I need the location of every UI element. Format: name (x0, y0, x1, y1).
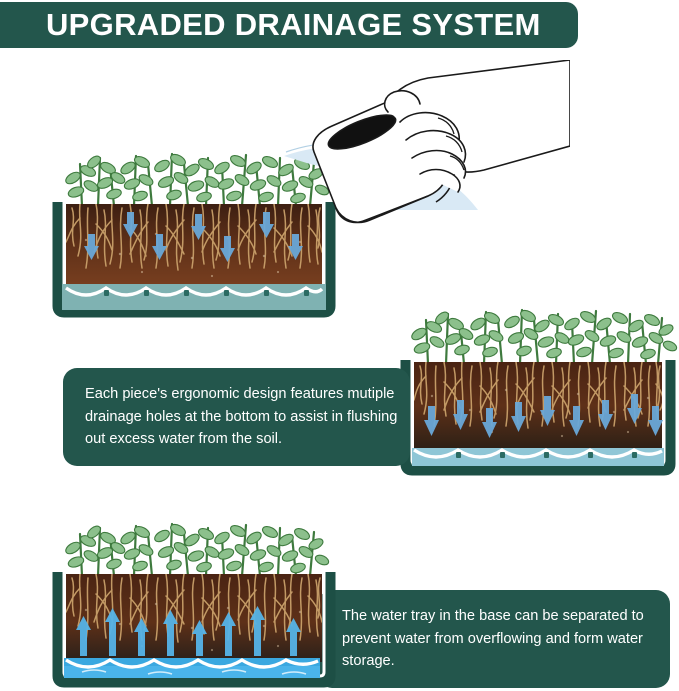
caption-drainage-holes-text: Each piece's ergonomic design features m… (63, 383, 410, 451)
caption-water-tray: The water tray in the base can be separa… (318, 590, 670, 688)
title-banner: UPGRADED DRAINAGE SYSTEM (0, 2, 578, 48)
water-storage-tray (64, 658, 320, 678)
foliage-group (410, 308, 678, 364)
foliage-group (64, 522, 330, 576)
page-title: UPGRADED DRAINAGE SYSTEM (46, 7, 541, 43)
watering-can-illustration (270, 60, 570, 240)
drainage-tray (62, 284, 326, 310)
illustration-planter-wicking (52, 508, 348, 691)
planter-wicking-svg (52, 508, 348, 691)
illustration-planter-draining (400, 296, 679, 480)
caption-water-tray-text: The water tray in the base can be separa… (318, 605, 670, 673)
watering-can-svg (270, 60, 570, 240)
planter-draining-svg (400, 296, 679, 480)
drainage-tray (412, 448, 664, 466)
caption-drainage-holes: Each piece's ergonomic design features m… (63, 368, 410, 466)
infographic-canvas: UPGRADED DRAINAGE SYSTEM (0, 0, 679, 691)
